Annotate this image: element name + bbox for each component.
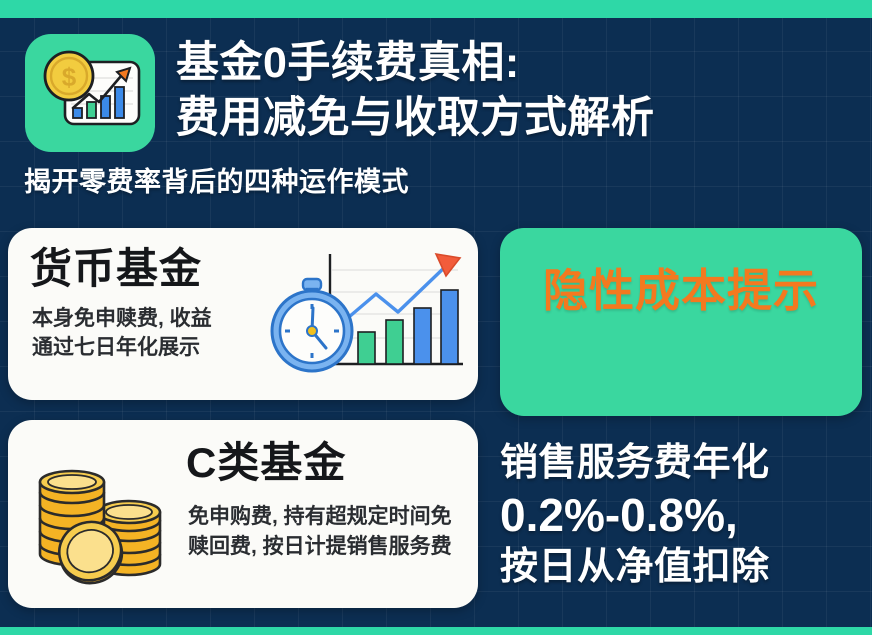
card-money-fund-description: 本身免申赎费, 收益 通过七日年化展示	[32, 304, 212, 362]
infographic-poster: $ 基金0手续费真相: 费用减免与收取方式解析 揭开零费率背后的四种运作模式 货…	[0, 0, 872, 635]
page-title-line-1: 基金0手续费真相:	[176, 36, 866, 91]
sales-service-fee-note: 销售服务费年化 0.2%-0.8%, 按日从净值扣除	[500, 438, 872, 592]
fee-note-line-1: 销售服务费年化	[500, 438, 872, 488]
page-title-line-2: 费用减免与收取方式解析	[176, 91, 866, 146]
fee-note-line-3: 按日从净值扣除	[500, 542, 872, 592]
page-subtitle: 揭开零费率背后的四种运作模式	[24, 160, 409, 199]
fee-note-line-2: 0.2%-0.8%,	[500, 488, 872, 542]
stopwatch-growth-chart-icon	[258, 246, 468, 386]
card-class-c-fund-heading: C类基金	[186, 440, 346, 486]
card-money-fund-desc-line-1: 本身免申赎费, 收益	[32, 304, 212, 333]
card-money-fund-desc-line-2: 通过七日年化展示	[32, 333, 212, 362]
hidden-cost-panel: 隐性成本提示	[500, 228, 862, 416]
card-class-c-fund: C类基金 免申购费, 持有超规定时间免 赎回费, 按日计提销售服务费	[8, 420, 478, 608]
bottom-accent-strip	[0, 627, 872, 635]
page-title: 基金0手续费真相: 费用减免与收取方式解析	[176, 36, 866, 146]
card-money-fund: 货币基金 本身免申赎费, 收益 通过七日年化展示	[8, 228, 478, 400]
fund-growth-coin-icon: $	[25, 34, 155, 152]
svg-text:$: $	[62, 62, 77, 92]
gold-coin-stack-icon	[28, 442, 178, 592]
header: $ 基金0手续费真相: 费用减免与收取方式解析	[0, 18, 872, 153]
card-class-c-fund-desc-line-1: 免申购费, 持有超规定时间免	[188, 502, 452, 532]
card-money-fund-heading: 货币基金	[30, 246, 202, 292]
hidden-cost-label: 隐性成本提示	[500, 254, 862, 319]
top-accent-strip	[0, 0, 872, 18]
card-class-c-fund-description: 免申购费, 持有超规定时间免 赎回费, 按日计提销售服务费	[188, 502, 452, 562]
card-class-c-fund-desc-line-2: 赎回费, 按日计提销售服务费	[188, 532, 452, 562]
